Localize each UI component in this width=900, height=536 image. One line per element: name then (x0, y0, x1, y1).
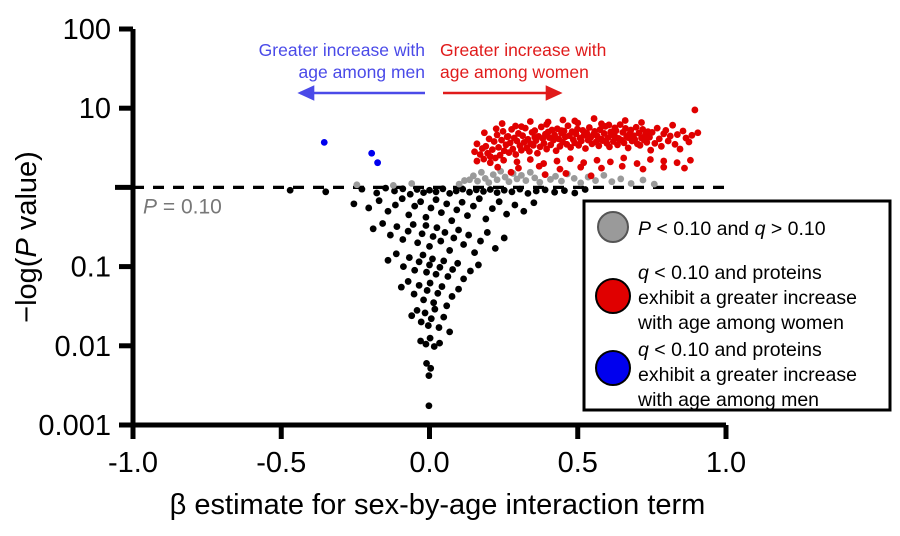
data-point (365, 205, 372, 212)
legend-red-label-line1: q < 0.10 and proteins (638, 262, 822, 284)
data-point (482, 216, 489, 223)
data-point (638, 119, 645, 126)
data-point (651, 181, 658, 188)
data-point (438, 209, 445, 216)
data-point (436, 340, 443, 347)
data-point (454, 260, 461, 267)
legend-gray-label: P < 0.10 and q > 0.10 (638, 218, 826, 240)
data-point (608, 178, 615, 185)
data-point (552, 173, 559, 180)
y-tick-label-4: 0.01 (55, 331, 111, 363)
data-point (408, 180, 415, 187)
threshold-label: P = 0.10 (143, 195, 222, 218)
data-point (382, 185, 389, 192)
data-point (585, 133, 592, 140)
data-point (449, 293, 456, 300)
data-point (491, 138, 498, 145)
data-point (408, 312, 415, 319)
data-point (410, 221, 417, 228)
data-point (542, 187, 549, 194)
data-point (405, 278, 412, 285)
data-point (470, 172, 477, 179)
data-point (407, 191, 414, 198)
data-point (443, 302, 450, 309)
y-tick-label-0: 100 (63, 14, 111, 46)
data-point (414, 239, 421, 246)
data-point (607, 158, 614, 165)
data-point (379, 220, 386, 227)
data-point (560, 117, 567, 124)
data-point (669, 122, 676, 129)
data-point (464, 212, 471, 219)
legend-blue-label-line1: q < 0.10 and proteins (638, 339, 822, 361)
data-point (509, 188, 516, 195)
data-point (466, 189, 473, 196)
data-point (471, 249, 478, 256)
data-point (542, 171, 549, 178)
data-point (392, 202, 399, 209)
data-point (662, 127, 669, 134)
data-point (427, 335, 434, 342)
data-point (493, 125, 500, 132)
data-point (439, 283, 446, 290)
data-point (370, 225, 377, 232)
data-point (321, 139, 328, 146)
data-point (647, 147, 654, 154)
data-point (484, 229, 491, 236)
data-point (481, 129, 488, 136)
x-tick-label-2: 0.0 (409, 447, 449, 479)
data-point (494, 132, 501, 139)
data-point (411, 291, 418, 298)
data-point (561, 187, 568, 194)
data-point (496, 198, 503, 205)
data-point (485, 179, 492, 186)
data-point (617, 176, 624, 183)
data-point (518, 123, 525, 130)
data-point (423, 222, 430, 229)
data-point (674, 159, 681, 166)
data-point (633, 124, 640, 131)
data-point (411, 203, 418, 210)
data-point (374, 159, 381, 166)
data-point (511, 202, 518, 209)
data-point (455, 286, 462, 293)
data-point (686, 139, 693, 146)
data-point (429, 256, 436, 263)
data-point (640, 166, 647, 173)
data-point (428, 205, 435, 212)
x-axis-title: β estimate for sex-by-age interaction te… (170, 489, 706, 521)
series-q-0-10-greater-increase-with-age-among-men (321, 139, 381, 166)
data-point (658, 143, 665, 150)
data-point (562, 170, 569, 177)
data-point (439, 185, 446, 192)
data-point (453, 188, 460, 195)
data-point (425, 322, 432, 329)
data-point (434, 290, 441, 297)
y-tick-label-3: 0.1 (71, 252, 111, 284)
data-point (531, 134, 538, 141)
data-point (598, 165, 605, 172)
data-point (536, 163, 543, 170)
data-point (350, 200, 357, 207)
data-point (527, 169, 534, 176)
legend-blue-label-line3: with age among men (637, 389, 819, 411)
data-point (577, 164, 584, 171)
data-point (391, 188, 398, 195)
data-point (446, 247, 453, 254)
data-point (501, 235, 508, 242)
data-point (594, 157, 601, 164)
data-point (512, 151, 519, 158)
data-point (420, 296, 427, 303)
data-point (494, 176, 501, 183)
data-point (436, 264, 443, 271)
data-point (444, 273, 451, 280)
data-point (694, 129, 701, 136)
data-point (622, 117, 629, 124)
data-point (440, 314, 447, 321)
data-point (390, 182, 397, 189)
data-point (527, 118, 534, 125)
data-point (500, 157, 507, 164)
data-point (654, 125, 661, 132)
data-point (400, 263, 407, 270)
data-point (505, 133, 512, 140)
data-point (423, 341, 430, 348)
data-point (406, 254, 413, 261)
data-point (414, 307, 421, 314)
data-point (453, 206, 460, 213)
data-point (680, 128, 687, 135)
data-point (467, 268, 474, 275)
data-point (492, 245, 499, 252)
y-tick-label-1: 10 (79, 93, 111, 125)
data-point (522, 177, 529, 184)
data-point (482, 143, 489, 150)
data-point (430, 299, 437, 306)
data-point (416, 258, 423, 265)
data-point (667, 133, 674, 140)
data-point (500, 128, 507, 135)
data-point (430, 233, 437, 240)
data-point (446, 328, 453, 335)
data-point (417, 198, 424, 205)
data-point (534, 150, 541, 157)
legend-red-label-line3: with age among women (637, 312, 844, 334)
legend-blue-label-line2: exhibit a greater increase (638, 364, 857, 386)
data-point (503, 211, 510, 218)
x-tick-label-3: 0.5 (558, 447, 598, 479)
data-point (591, 115, 598, 122)
data-point (426, 262, 433, 269)
data-point (426, 372, 433, 379)
data-point (501, 187, 508, 194)
data-point (460, 241, 467, 248)
data-point (433, 188, 440, 195)
data-point (489, 146, 496, 153)
data-point (387, 232, 394, 239)
data-point (619, 163, 626, 170)
data-point (582, 186, 589, 193)
data-point (431, 306, 438, 313)
data-point (459, 199, 466, 206)
data-point (598, 120, 605, 127)
data-point (689, 132, 696, 139)
data-point (634, 160, 641, 167)
data-point (582, 145, 589, 152)
data-point (405, 228, 412, 235)
data-point (423, 214, 430, 221)
data-point (567, 155, 574, 162)
data-point (605, 122, 612, 129)
data-point (428, 315, 435, 322)
data-point (554, 158, 561, 165)
data-point (588, 172, 595, 179)
data-point (600, 172, 607, 179)
data-point (536, 179, 543, 186)
data-point (385, 257, 392, 264)
data-point (478, 169, 485, 176)
data-point (517, 186, 524, 193)
data-point (557, 166, 564, 173)
data-point (515, 165, 522, 172)
data-point (436, 324, 443, 331)
data-point (322, 188, 329, 195)
data-point (442, 229, 449, 236)
data-point (426, 243, 433, 250)
data-point (558, 178, 565, 185)
data-point (551, 189, 558, 196)
data-point (426, 402, 433, 409)
x-tick-label-0: -1.0 (108, 447, 158, 479)
data-point (414, 186, 421, 193)
data-point (427, 365, 434, 372)
data-point (565, 122, 572, 129)
data-point (476, 195, 483, 202)
legend-gray-swatch (598, 212, 628, 242)
data-point (672, 141, 679, 148)
data-point (419, 230, 426, 237)
data-point (461, 177, 468, 184)
data-point (405, 211, 412, 218)
data-point (487, 159, 494, 166)
data-point (687, 157, 694, 164)
data-point (518, 172, 525, 179)
data-point (393, 223, 400, 230)
data-point (520, 208, 527, 215)
data-point (558, 127, 565, 134)
data-point (423, 269, 430, 276)
y-axis-title: −log(P value) (11, 151, 43, 323)
data-point (470, 203, 477, 210)
data-point (373, 190, 380, 197)
data-point (508, 169, 515, 176)
data-point (474, 140, 481, 147)
data-point (433, 271, 440, 278)
data-point (411, 267, 418, 274)
data-point (420, 189, 427, 196)
data-point (446, 190, 453, 197)
left-annotation-line1: Greater increase with (259, 40, 425, 60)
data-point (399, 236, 406, 243)
data-point (625, 134, 632, 141)
data-point (527, 156, 534, 163)
data-point (628, 180, 635, 187)
data-point (647, 156, 654, 163)
data-point (376, 197, 383, 204)
volcano-plot-figure: 100100.10.010.001-1.0-0.50.00.51.0β esti… (0, 0, 900, 536)
data-point (514, 158, 521, 165)
data-point (533, 188, 540, 195)
data-point (443, 200, 450, 207)
left-annotation-line2: age among men (299, 62, 425, 82)
data-point (427, 280, 434, 287)
data-point (489, 205, 496, 212)
data-point (287, 187, 294, 194)
data-point (460, 275, 467, 282)
data-point (640, 177, 647, 184)
data-point (620, 155, 627, 162)
data-point (398, 284, 405, 291)
data-point (571, 175, 578, 182)
data-point (440, 258, 447, 265)
data-point (571, 118, 578, 125)
data-point (660, 158, 667, 165)
data-point (681, 165, 688, 172)
series-not-significant (287, 185, 589, 409)
data-point (506, 178, 513, 185)
data-point (545, 119, 552, 126)
data-point (674, 131, 681, 138)
data-point (526, 148, 533, 155)
data-point (450, 235, 457, 242)
data-point (385, 208, 392, 215)
y-tick-label-5: 0.001 (38, 410, 111, 442)
data-point (393, 250, 400, 257)
data-point (530, 199, 537, 206)
data-point (455, 227, 462, 234)
data-point (422, 310, 429, 317)
data-point (474, 158, 481, 165)
volcano-plot-canvas: 100100.10.010.001-1.0-0.50.00.51.0β esti… (0, 0, 900, 536)
data-point (487, 186, 494, 193)
right-annotation-line2: age among women (440, 62, 589, 82)
data-point (475, 262, 482, 269)
data-point (480, 156, 487, 163)
data-point (494, 189, 501, 196)
data-point (691, 107, 698, 114)
data-point (449, 266, 456, 273)
data-point (531, 127, 538, 134)
data-point (437, 238, 444, 245)
series-q-0-10-greater-increase-with-age-among-women (471, 107, 701, 180)
x-tick-label-4: 1.0 (706, 447, 746, 479)
data-point (625, 145, 632, 152)
legend-red-label-line2: exhibit a greater increase (638, 287, 857, 309)
data-point (611, 124, 618, 131)
data-point (512, 123, 519, 130)
data-point (434, 224, 441, 231)
data-point (473, 187, 480, 194)
series-p-0-10-and-q-0-10 (353, 168, 657, 189)
data-point (465, 232, 472, 239)
data-point (418, 319, 425, 326)
legend-blue-swatch (596, 351, 630, 385)
data-point (677, 146, 684, 153)
data-point (480, 188, 487, 195)
data-point (426, 187, 433, 194)
data-point (448, 217, 455, 224)
data-point (353, 181, 360, 188)
data-point (368, 150, 375, 157)
data-point (433, 196, 440, 203)
data-point (577, 179, 584, 186)
legend-red-swatch (596, 279, 630, 313)
data-point (525, 190, 532, 197)
data-point (474, 178, 481, 185)
data-point (424, 287, 431, 294)
data-point (477, 238, 484, 245)
data-point (399, 195, 406, 202)
data-point (494, 164, 501, 171)
right-annotation-line1: Greater increase with (440, 40, 606, 60)
x-tick-label-1: -0.5 (256, 447, 306, 479)
data-point (499, 120, 506, 127)
data-point (660, 164, 667, 171)
data-point (399, 185, 406, 192)
data-point (416, 282, 423, 289)
data-point (420, 252, 427, 259)
data-point (571, 190, 578, 197)
data-point (495, 144, 502, 151)
